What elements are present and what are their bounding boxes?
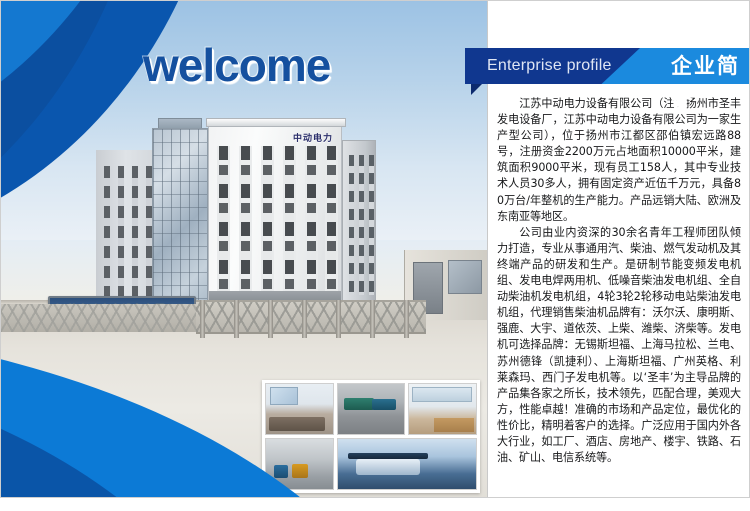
facility-photo-gallery: 办公会议室 发电机组车间 办公区 生产车间 会议室 (262, 380, 480, 493)
rooftop-company-sign: 中动电力 (293, 131, 333, 144)
bottom-white-strip (0, 498, 750, 511)
section-title-banner: Enterprise profile 企业简介 (465, 48, 750, 84)
poster-canvas: 中动电力 江苏中动电力设备有限公司 Jiangsu Zhongdong Powe… (0, 0, 750, 511)
glass-curtain-tower (152, 128, 208, 313)
welcome-headline: welcome (143, 38, 330, 92)
retractable-gate (196, 300, 426, 334)
conference-room-photo: 会议室 (337, 438, 477, 490)
building-wing (342, 140, 376, 315)
banner-tail-triangle (471, 84, 482, 95)
gate-house-window (448, 260, 482, 294)
profile-paragraph-1: 江苏中动电力设备有限公司（注：扬州市圣丰发电设备厂，江苏中动电力设备有限公司为一… (497, 96, 741, 225)
banner-label-english: Enterprise profile (487, 48, 612, 84)
generator-workshop-photo: 发电机组车间 (337, 383, 406, 435)
banner-label-chinese: 企业简介 (671, 48, 750, 84)
left-fence (0, 304, 198, 332)
building-parapet (206, 118, 346, 127)
meeting-room-photo: 办公会议室 (265, 383, 334, 435)
main-office-building: 中动电力 (208, 123, 342, 315)
profile-body-copy: 江苏中动电力设备有限公司（注：扬州市圣丰发电设备厂，江苏中动电力设备有限公司为一… (497, 96, 741, 488)
hero-photo-panel: 中动电力 江苏中动电力设备有限公司 Jiangsu Zhongdong Powe… (0, 0, 487, 498)
profile-paragraph-2: 公司由业内资深的30余名青年工程师团队倾力打造，专业从事通用汽、柴油、燃气发动机… (497, 225, 741, 466)
office-area-photo: 办公区 (408, 383, 477, 435)
